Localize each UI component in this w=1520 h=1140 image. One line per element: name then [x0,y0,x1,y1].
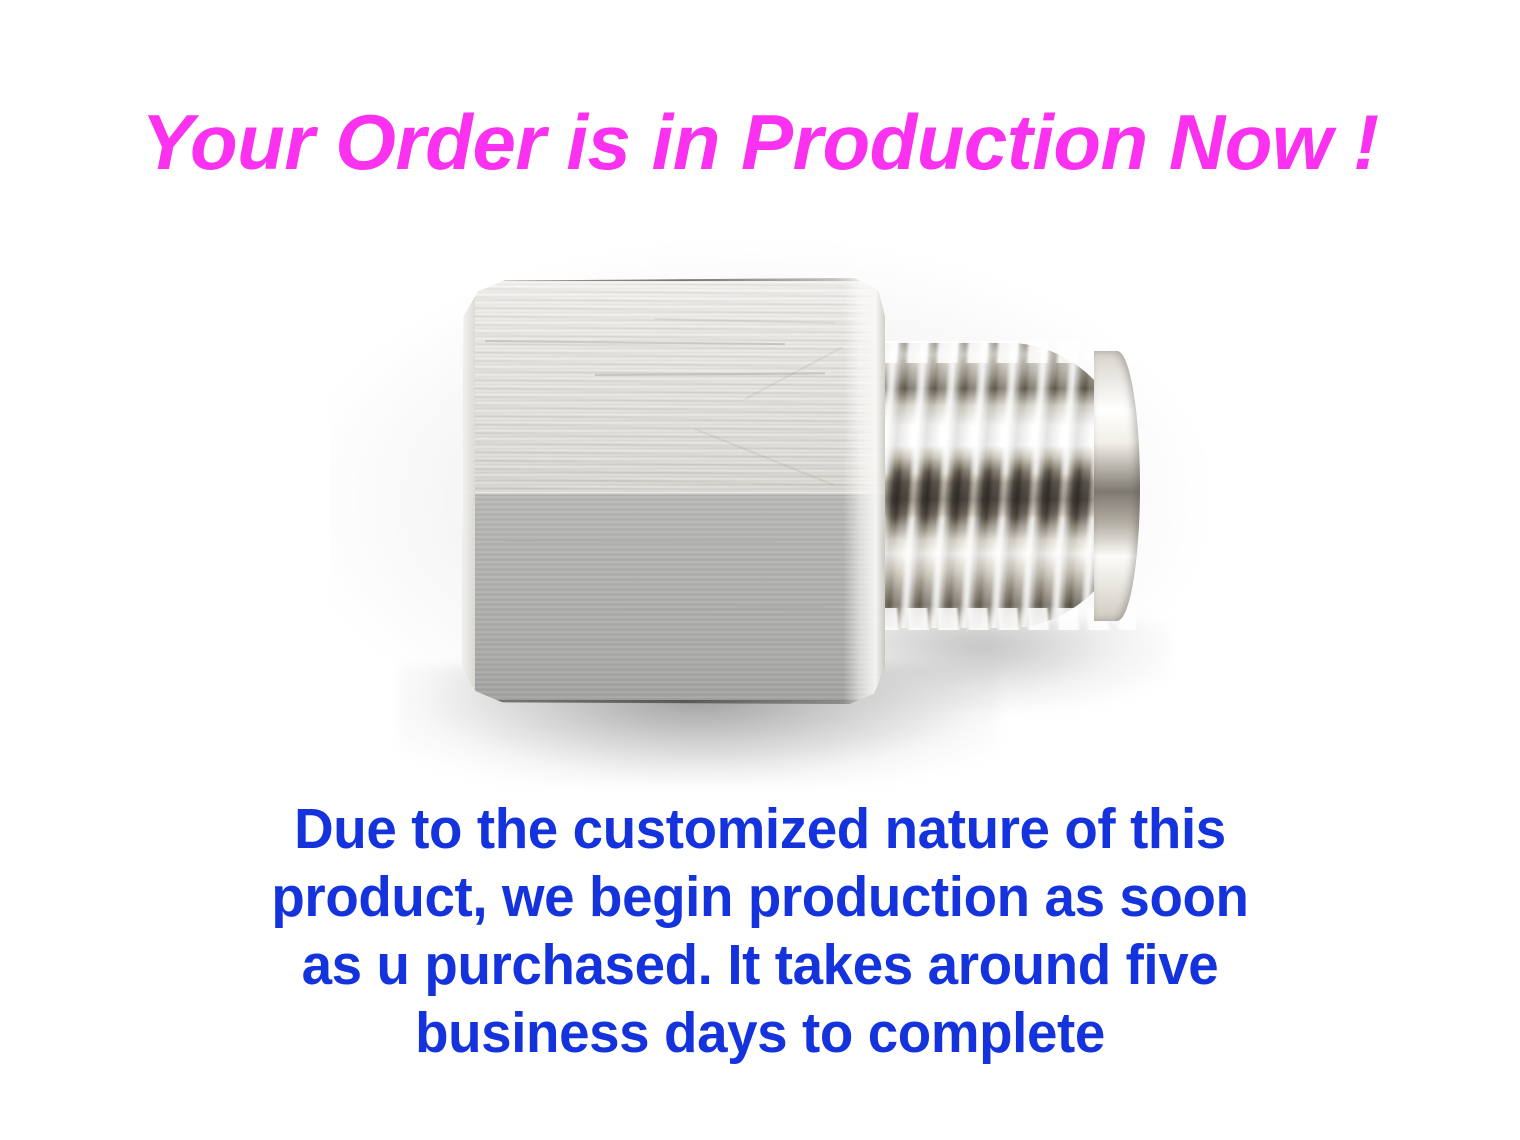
hex-body [445,278,890,708]
thread-end-rim [1094,351,1140,621]
threaded-nipple [858,343,1143,628]
hex-left-chamfer [445,278,475,704]
hex-bottom-edge [461,700,871,704]
hex-brush-texture-lower [445,496,885,704]
body-copy-line: as u purchased. It takes around five [30,931,1489,999]
thread-drop-shadow [860,620,1170,710]
product-photo [0,210,1520,770]
page-title: Your Order is in Production Now ! [0,90,1520,194]
hex-brush-texture-upper-2 [445,284,885,489]
hex-body-shape [445,278,885,704]
body-copy-line: product, we begin production as soon [30,863,1489,931]
hex-top-edge [463,278,867,281]
body-copy-line: Due to the customized nature of this [30,795,1489,863]
hex-right-bevel [843,278,885,704]
promo-banner: Your Order is in Production Now ! [0,0,1520,1140]
body-copy: Due to the customized nature of this pro… [0,795,1520,1067]
body-copy-line: business days to complete [30,999,1489,1067]
